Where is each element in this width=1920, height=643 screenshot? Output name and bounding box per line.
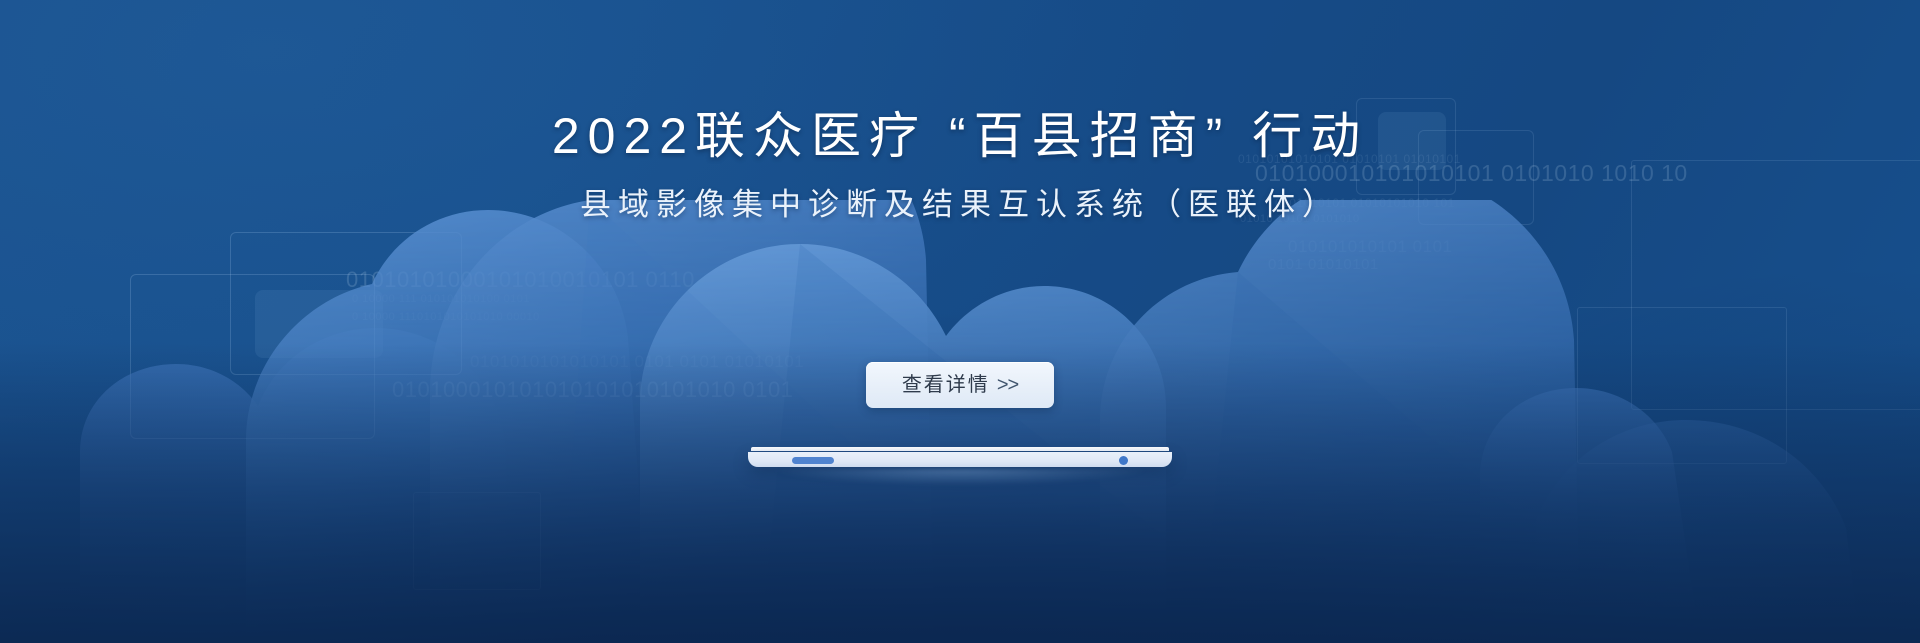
- promo-banner: 01010101000101010010101 0110 0 10000 111…: [0, 0, 1920, 643]
- banner-title: 2022联众医疗 “百县招商” 行动: [0, 0, 1920, 166]
- banner-text-block: 2022联众医疗 “百县招商” 行动 县域影像集中诊断及结果互认系统（医联体）: [0, 0, 1920, 223]
- banner-subtitle: 县域影像集中诊断及结果互认系统（医联体）: [0, 166, 1920, 223]
- view-details-button[interactable]: 查看详情>>: [866, 362, 1054, 408]
- cta-container: 查看详情>>: [0, 362, 1920, 408]
- device-glow: [773, 469, 1146, 485]
- device-illustration: [748, 447, 1172, 471]
- device-screen-edge: [751, 447, 1169, 451]
- device-speaker-icon: [792, 457, 834, 464]
- chevron-right-icon: >>: [997, 374, 1018, 396]
- device-camera-icon: [1119, 456, 1128, 465]
- view-details-label: 查看详情: [902, 374, 990, 396]
